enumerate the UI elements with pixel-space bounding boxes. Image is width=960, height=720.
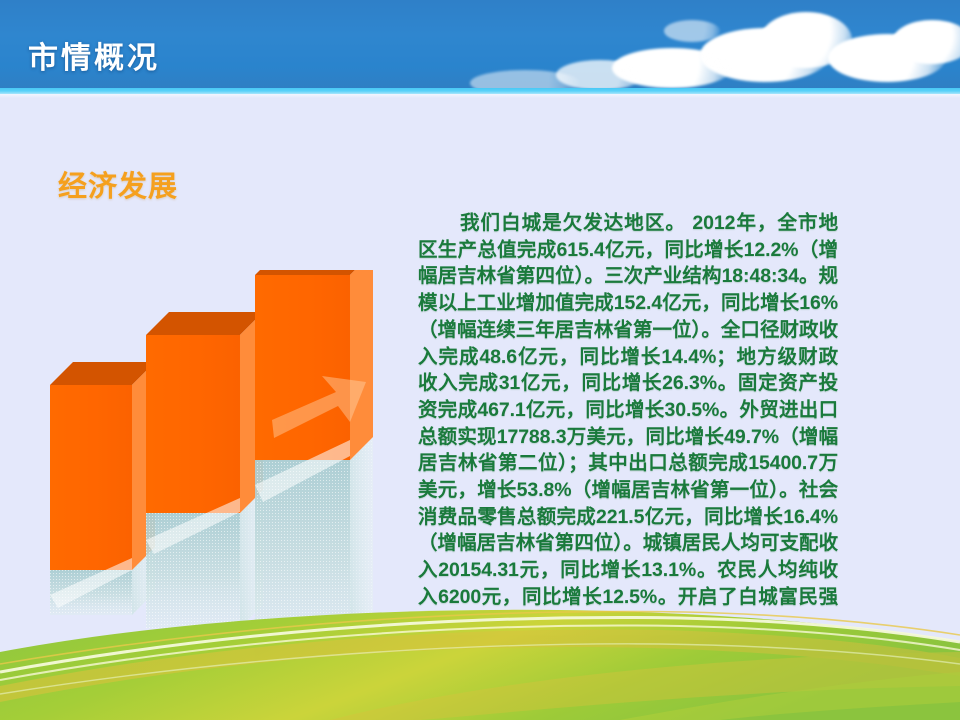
slide-canvas: 市情概况 经济发展 — [0, 0, 960, 720]
bar-2 — [146, 312, 263, 513]
economic-development-paragraph: 我们白城是欠发达地区。 2012年，全市地区生产总值完成615.4亿元，同比增长… — [418, 210, 838, 637]
page-title: 市情概况 — [28, 33, 160, 77]
section-subtitle: 经济发展 — [58, 163, 178, 205]
footer-wave-decoration — [0, 590, 960, 720]
bar-3 — [255, 270, 373, 460]
header-fade-band — [0, 94, 960, 98]
cloud-icon — [664, 20, 720, 42]
bar-1 — [50, 362, 155, 570]
